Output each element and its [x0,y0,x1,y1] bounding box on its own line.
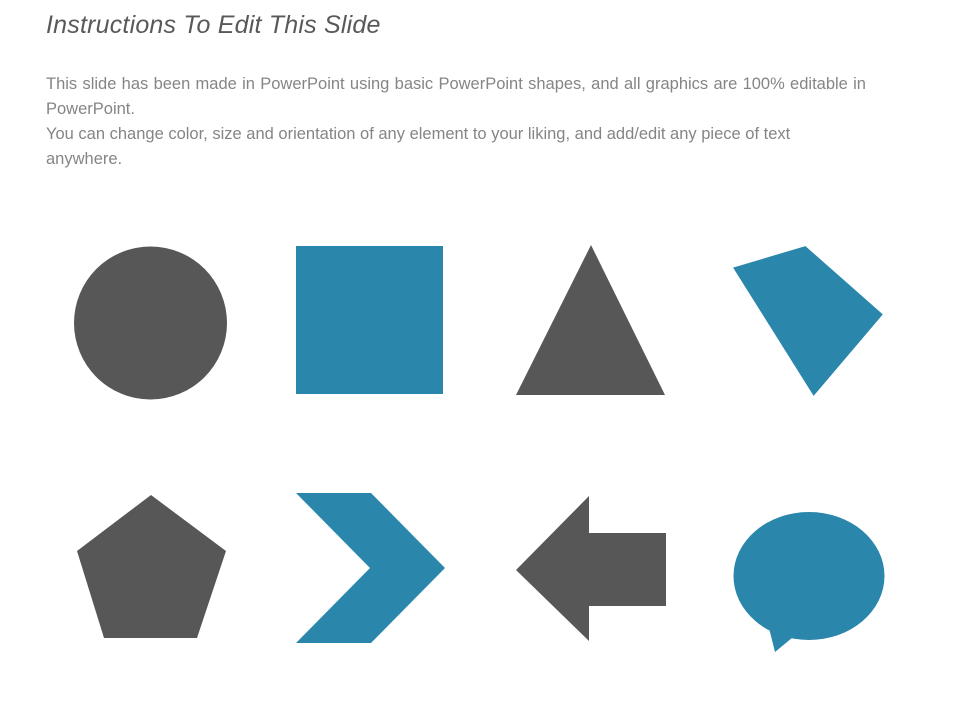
diamond-shape[interactable] [732,243,885,398]
arrow-left-shape[interactable] [516,496,666,641]
square-shape[interactable] [296,246,443,394]
chevron-right-shape[interactable] [296,493,445,643]
slide-canvas: Instructions To Edit This Slide This sli… [0,0,960,720]
triangle-shape[interactable] [516,245,665,395]
pentagon-shape[interactable] [77,495,226,638]
shape-gallery [0,0,960,720]
circle-shape[interactable] [74,247,227,400]
speech-bubble-shape[interactable] [734,512,885,652]
